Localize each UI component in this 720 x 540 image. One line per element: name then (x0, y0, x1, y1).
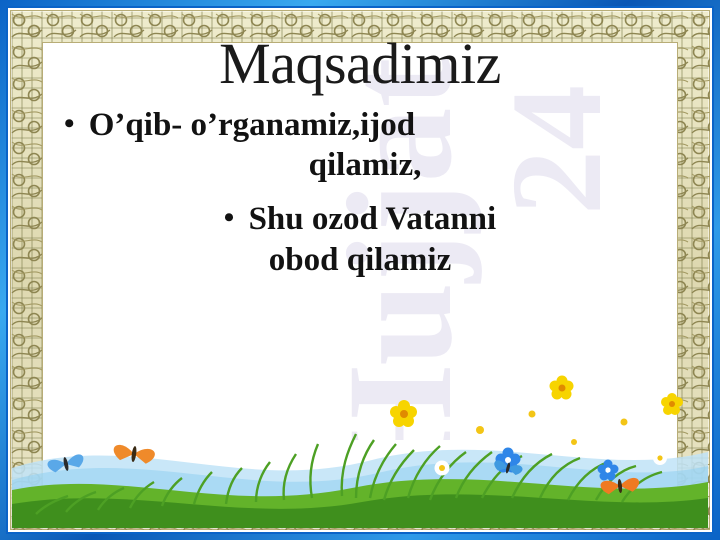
page-title: Maqsadimiz (48, 34, 672, 95)
bullet-list: • O’qib- o’rganamiz,ijod qilamiz, • Shu … (48, 105, 672, 280)
bullet-text-line2: qilamiz, (58, 145, 672, 185)
bullet-marker: • (224, 201, 235, 234)
bullet-text-line1: O’qib- o’rganamiz,ijod (89, 107, 415, 143)
list-item: • O’qib- o’rganamiz,ijod qilamiz, (48, 105, 672, 186)
slide: 24 Hujjat (0, 0, 720, 540)
bullet-marker: • (64, 107, 75, 140)
slide-content: Maqsadimiz • O’qib- o’rganamiz,ijod qila… (48, 34, 672, 480)
bullet-text-line2: obod qilamiz (48, 240, 672, 280)
list-item: • Shu ozod Vatanni obod qilamiz (48, 199, 672, 280)
bullet-text-line1: Shu ozod Vatanni (249, 201, 497, 237)
